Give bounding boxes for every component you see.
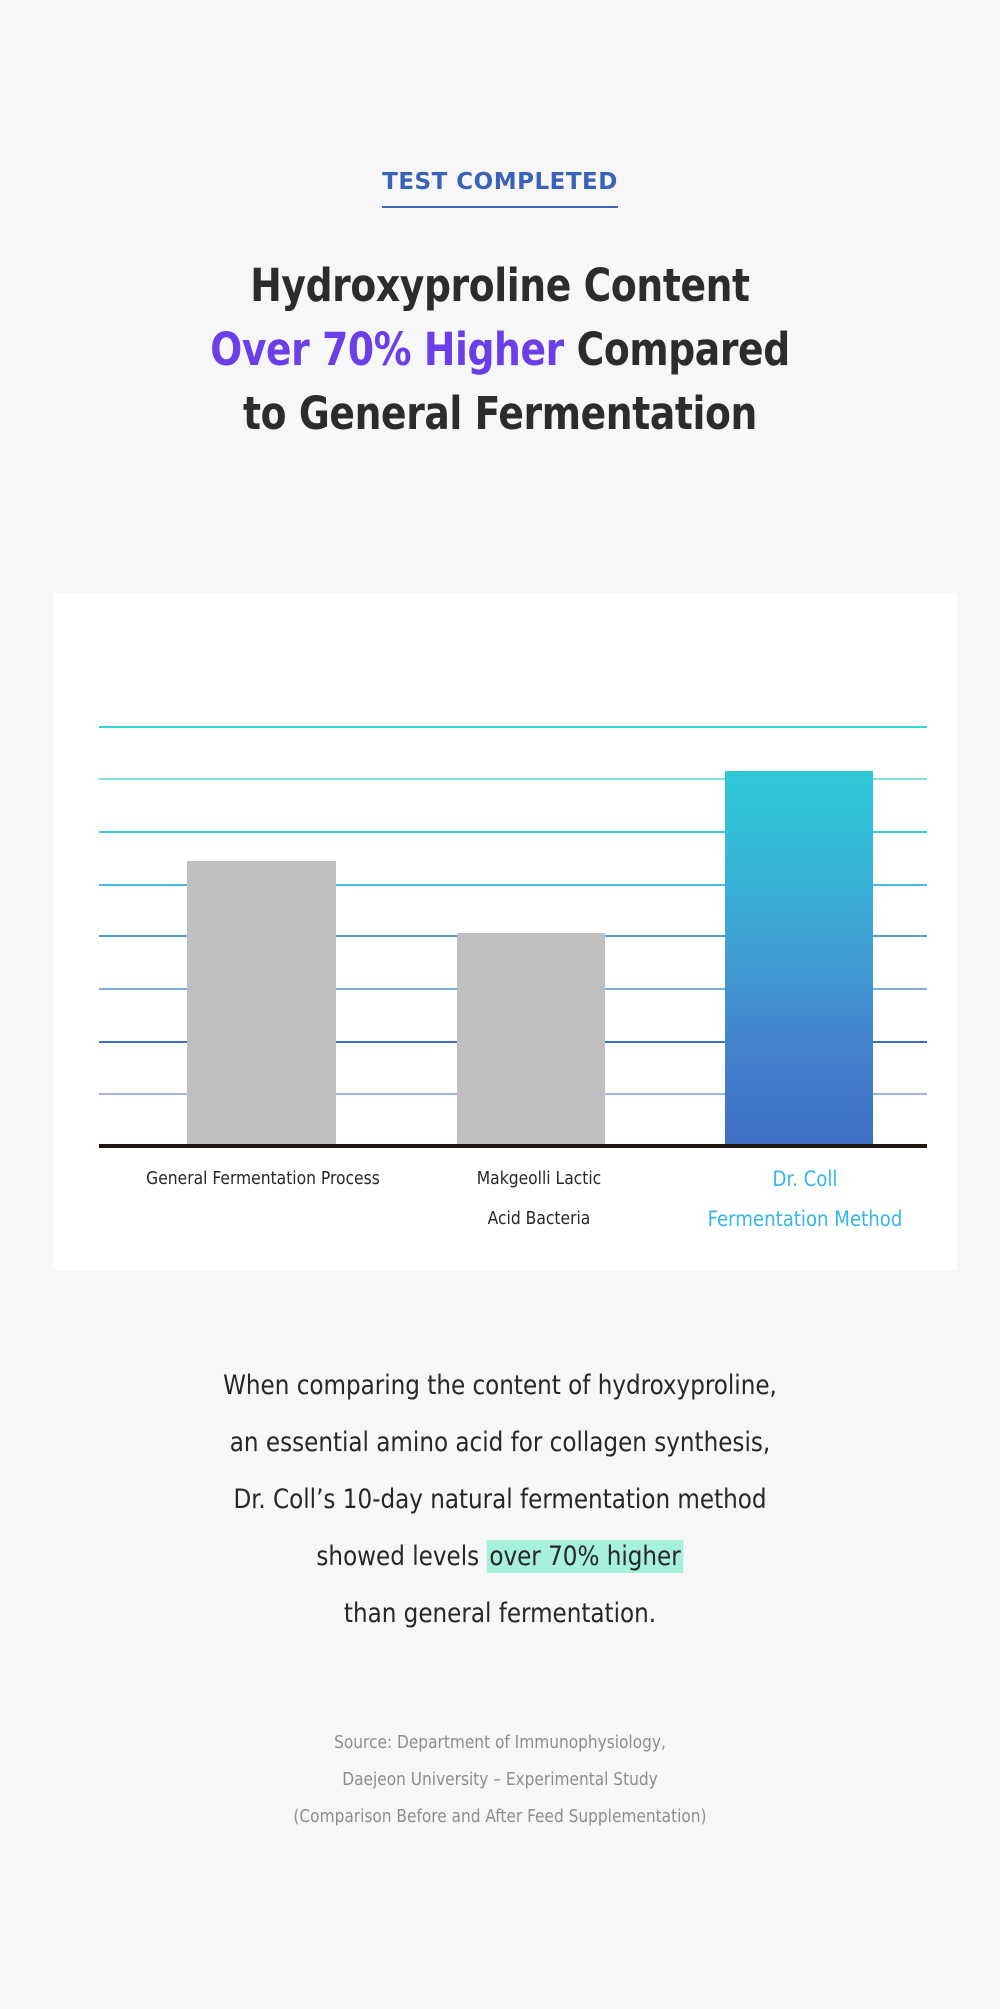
page-header: TEST COMPLETED Hydroxyproline Content Ov…	[0, 0, 1000, 446]
body-line-5: than general fermentation.	[344, 1598, 656, 1629]
headline-line-2-rest: Compared	[564, 323, 790, 376]
x-label-text: Makgeolli Lactic	[477, 1168, 601, 1189]
bar-general-fermentation	[187, 861, 336, 1144]
eyebrow-badge: TEST COMPLETED	[382, 168, 618, 208]
x-axis-line	[99, 1144, 927, 1148]
eyebrow-underline	[382, 206, 618, 208]
body-line-1: When comparing the content of hydroxypro…	[223, 1370, 777, 1401]
x-label-dr-coll-fermentation: Dr. Coll Fermentation Method	[659, 1159, 951, 1239]
headline-line-3: to General Fermentation	[243, 387, 757, 440]
bar-chart: General Fermentation Process Makgeolli L…	[53, 593, 957, 1270]
bar-makgeolli-lactic	[457, 933, 605, 1144]
body-highlight: over 70% higher	[486, 1540, 683, 1573]
headline-accent: Over 70% Higher	[210, 323, 564, 376]
x-label-general-fermentation: General Fermentation Process	[61, 1159, 464, 1199]
source-line-1: Source: Department of Immunophysiology,	[334, 1732, 666, 1753]
x-label-text: Fermentation Method	[708, 1207, 903, 1231]
headline-line-1: Hydroxyproline Content	[250, 259, 749, 312]
eyebrow-label: TEST COMPLETED	[382, 168, 618, 206]
body-line-4-prefix: showed levels	[316, 1541, 486, 1572]
body-line-3: Dr. Coll’s 10-day natural fermentation m…	[233, 1484, 766, 1515]
page-title: Hydroxyproline Content Over 70% Higher C…	[35, 254, 965, 446]
source-line-2: Daejeon University – Experimental Study	[342, 1769, 658, 1790]
source-note: Source: Department of Immunophysiology, …	[25, 1724, 975, 1835]
bar-dr-coll-fermentation	[725, 771, 873, 1144]
body-line-2: an essential amino acid for collagen syn…	[230, 1427, 770, 1458]
gridline	[99, 726, 927, 728]
x-axis-labels: General Fermentation Process Makgeolli L…	[53, 1159, 957, 1269]
x-label-text: Dr. Coll	[773, 1167, 838, 1191]
body-paragraph: When comparing the content of hydroxypro…	[25, 1357, 975, 1642]
x-label-text: Acid Bacteria	[488, 1208, 591, 1229]
chart-card: General Fermentation Process Makgeolli L…	[53, 593, 957, 1270]
source-line-3: (Comparison Before and After Feed Supple…	[293, 1806, 706, 1827]
x-label-text: General Fermentation Process	[146, 1168, 380, 1189]
x-label-makgeolli-lactic: Makgeolli Lactic Acid Bacteria	[414, 1159, 664, 1239]
